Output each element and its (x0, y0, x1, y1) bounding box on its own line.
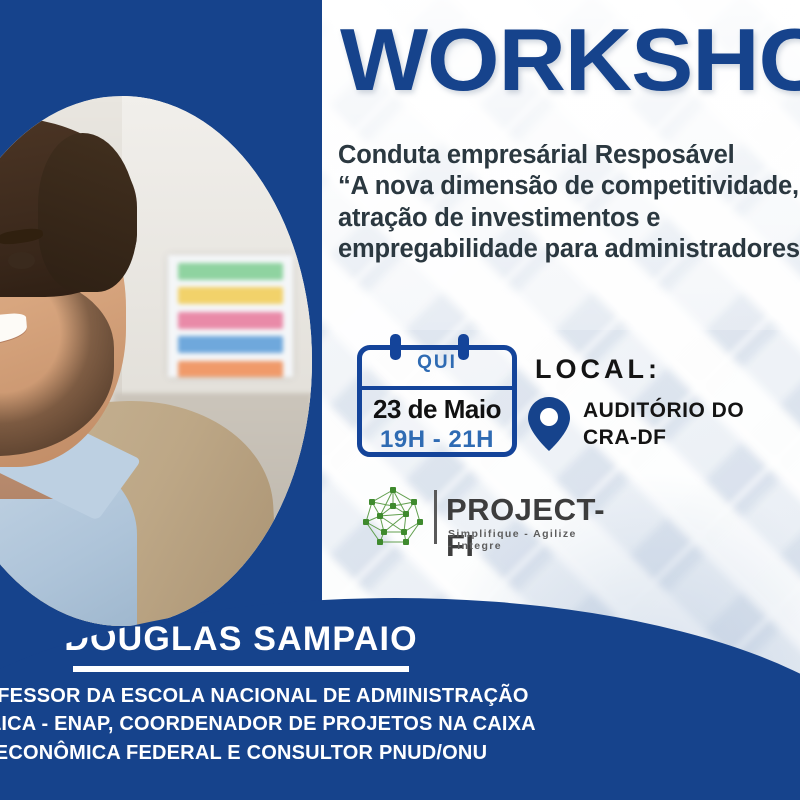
left-blue-panel (0, 0, 322, 700)
venue-line-1: AUDITÓRIO DO (583, 398, 744, 425)
speaker-divider (73, 666, 409, 672)
portrait-illustration (0, 96, 312, 626)
credentials-line-1: PROFESSOR DA ESCOLA NACIONAL DE ADMINIST… (0, 682, 756, 710)
subtitle-block: Conduta empresárial Resposável “A nova d… (338, 140, 790, 265)
calendar-divider (362, 386, 512, 390)
logo-tagline: Simplifique - Agilize - Integre (448, 528, 582, 552)
subtitle-line-1: Conduta empresárial Resposável (338, 140, 790, 171)
location-label: LOCAL: (535, 354, 661, 385)
photo-eye-right (8, 252, 35, 268)
calendar-body: QUI 23 de Maio 19H - 21H (357, 345, 517, 457)
logo-divider (434, 490, 437, 544)
event-date: 23 de Maio (362, 394, 512, 425)
calendar-ring-left (390, 334, 401, 360)
photo-wall-poster (168, 255, 293, 377)
map-pin-icon (527, 396, 571, 452)
speaker-name: DOUGLAS SAMPAIO (0, 620, 756, 659)
calendar-icon: QUI 23 de Maio 19H - 21H (357, 334, 517, 459)
subtitle-line-3: atração de investimentos e (338, 203, 790, 234)
location-venue: AUDITÓRIO DO CRA-DF (583, 398, 744, 452)
credentials-line-3: ECONÔMICA FEDERAL E CONSULTOR PNUD/ONU (0, 739, 756, 767)
network-mesh-globe-icon (360, 486, 426, 550)
speaker-credentials: PROFESSOR DA ESCOLA NACIONAL DE ADMINIST… (0, 682, 756, 767)
speaker-banner-inner: DOUGLAS SAMPAIO PROFESSOR DA ESCOLA NACI… (0, 598, 800, 800)
event-time: 19H - 21H (362, 426, 512, 454)
subtitle-line-4: empregabilidade para administradores” (338, 234, 790, 265)
speaker-photo (0, 96, 312, 626)
page-title: WORKSHOP (340, 18, 800, 102)
event-flyer: WORKSHOP Conduta empresárial Resposável … (0, 0, 800, 800)
speaker-banner: DOUGLAS SAMPAIO PROFESSOR DA ESCOLA NACI… (0, 598, 800, 800)
subtitle-line-2: “A nova dimensão de competitividade, (338, 171, 790, 202)
event-day-of-week: QUI (362, 352, 512, 374)
credentials-line-2: PÚBLICA - ENAP, COORDENADOR DE PROJETOS … (0, 710, 756, 738)
venue-line-2: CRA-DF (583, 425, 744, 452)
calendar-ring-right (458, 334, 469, 360)
project-fi-logo: PROJECT-FI Simplifique - Agilize - Integ… (360, 484, 582, 552)
